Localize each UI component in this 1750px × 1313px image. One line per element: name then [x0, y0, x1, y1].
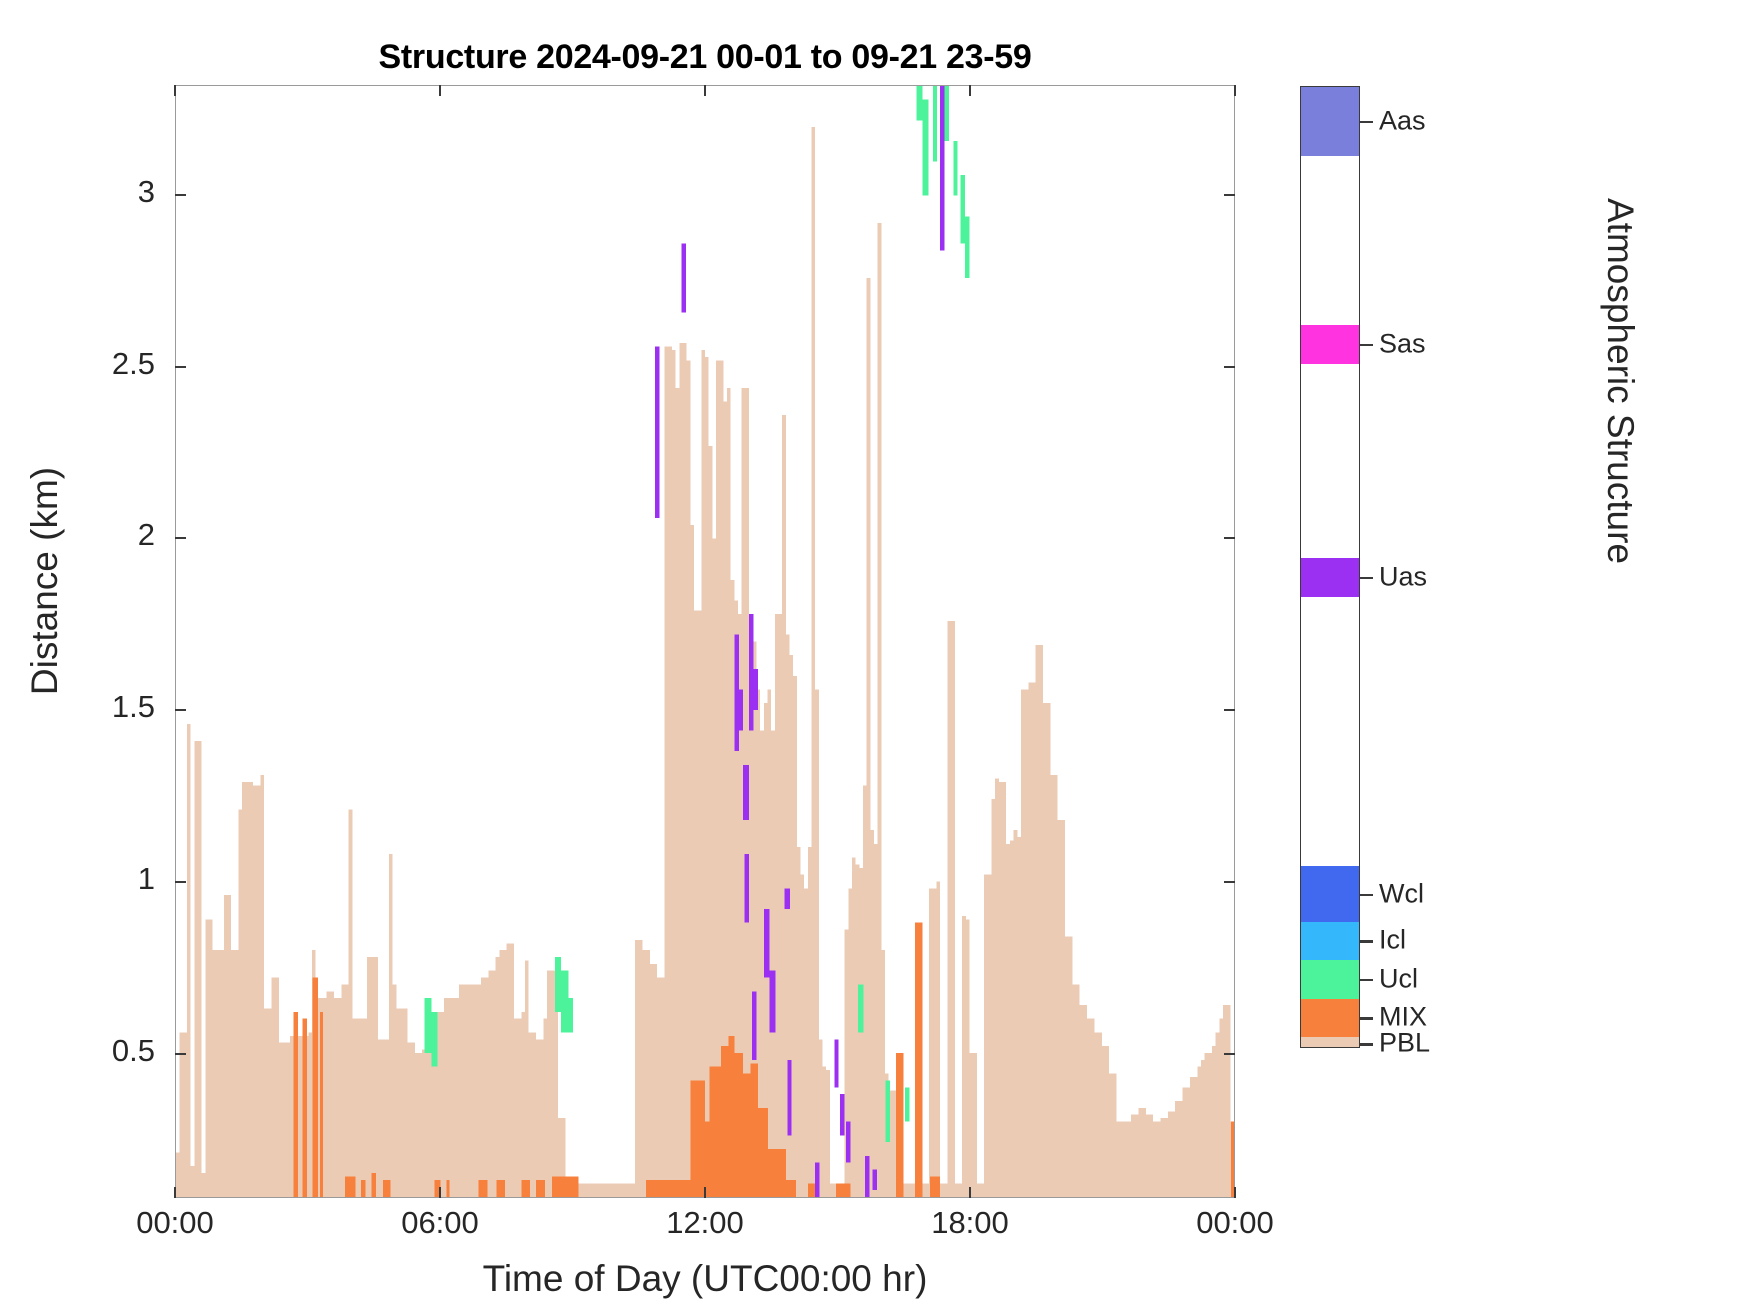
pbl-column [628, 1183, 632, 1197]
y-tick-label: 3 [15, 174, 155, 210]
x-tick-mark [969, 1187, 971, 1198]
pbl-column [338, 998, 342, 1197]
pbl-column [947, 621, 951, 1197]
pbl-column [540, 1039, 544, 1197]
colorbar-title: Atmospheric Structure [1599, 141, 1641, 621]
pbl-column [411, 1043, 415, 1197]
mix-segment [313, 978, 318, 1197]
pbl-column [1223, 1005, 1227, 1197]
pbl-column [1083, 1005, 1087, 1197]
colorbar-tick-pbl [1360, 1043, 1373, 1045]
mix-segment [345, 1176, 355, 1197]
series-pbl [176, 127, 1234, 1197]
pbl-column [635, 940, 639, 1197]
pbl-column [911, 1183, 915, 1197]
pbl-column [984, 875, 988, 1197]
pbl-column [992, 799, 996, 1197]
y-tick-mark [175, 709, 186, 711]
x-tick-mark-top [174, 85, 176, 96]
x-tick-mark-top [1234, 85, 1236, 96]
pbl-column [621, 1183, 625, 1197]
pbl-column [529, 1032, 533, 1197]
pbl-column [892, 1091, 896, 1197]
pbl-column [532, 1032, 536, 1197]
mix-segment [446, 1180, 449, 1197]
pbl-column [503, 950, 507, 1197]
pbl-column [687, 360, 691, 1197]
pbl-column [349, 810, 353, 1197]
pbl-column [474, 984, 478, 1197]
mix-segment [836, 1183, 851, 1197]
pbl-column [499, 950, 503, 1197]
y-tick-label: 0.5 [15, 1033, 155, 1069]
pbl-column [481, 978, 485, 1197]
pbl-column [999, 782, 1003, 1197]
pbl-column [1076, 984, 1080, 1197]
pbl-column [496, 957, 500, 1197]
pbl-column [988, 875, 992, 1197]
y-tick-mark-right [1224, 194, 1235, 196]
pbl-column [933, 888, 937, 1197]
pbl-column [793, 676, 797, 1197]
colorbar-label-aas: Aas [1379, 105, 1426, 136]
mix-segment [646, 1180, 690, 1197]
mix-segment [751, 1063, 758, 1197]
pbl-column [878, 223, 882, 1197]
pbl-column [1094, 1032, 1098, 1197]
pbl-column [1098, 1032, 1102, 1197]
pbl-column [1205, 1053, 1209, 1197]
pbl-column [584, 1183, 588, 1197]
pbl-column [1113, 1074, 1117, 1197]
pbl-column [198, 741, 202, 1197]
pbl-column [606, 1183, 610, 1197]
mix-segment [383, 1180, 390, 1197]
pbl-column [1054, 775, 1058, 1197]
pbl-column [705, 357, 709, 1197]
pbl-column [459, 984, 463, 1197]
pbl-column [981, 1183, 985, 1197]
mix-segment [371, 1173, 375, 1197]
pbl-column [643, 950, 647, 1197]
uas-segment [734, 635, 738, 752]
pbl-column [852, 858, 856, 1197]
pbl-column [951, 621, 955, 1197]
mix-segment [294, 1012, 298, 1197]
pbl-column [389, 854, 393, 1197]
ucl-segment [917, 86, 923, 120]
pbl-column [227, 895, 231, 1197]
pbl-column [617, 1183, 621, 1197]
colorbar-segment-uas [1301, 558, 1359, 596]
pbl-column [286, 1043, 290, 1197]
pbl-column [775, 614, 779, 1197]
pbl-column [352, 1019, 356, 1197]
pbl-column [477, 984, 481, 1197]
pbl-column [1127, 1122, 1131, 1197]
x-tick-label: 18:00 [880, 1205, 1060, 1241]
pbl-column [1161, 1118, 1165, 1197]
colorbar-segment-pbl [1301, 1037, 1359, 1048]
pbl-column [1010, 840, 1014, 1197]
pbl-column [1025, 690, 1029, 1197]
pbl-column [977, 1183, 981, 1197]
pbl-column [323, 998, 327, 1197]
pbl-column [1197, 1067, 1201, 1197]
pbl-column [580, 1183, 584, 1197]
pbl-column [1058, 820, 1062, 1197]
uas-segment [752, 991, 756, 1060]
y-tick-mark [175, 194, 186, 196]
pbl-column [371, 957, 375, 1197]
pbl-column [220, 950, 224, 1197]
pbl-column [551, 971, 555, 1197]
pbl-column [801, 875, 805, 1197]
ucl-segment [555, 957, 561, 1012]
pbl-column [970, 1053, 974, 1197]
ucl-segment [432, 1012, 438, 1067]
colorbar-tick-sas [1360, 344, 1373, 346]
colorbar-label-ucl: Ucl [1379, 963, 1418, 994]
pbl-column [1135, 1115, 1139, 1197]
uas-segment [681, 244, 685, 313]
pbl-column [683, 343, 687, 1197]
pbl-column [587, 1183, 591, 1197]
mix-segment [521, 1180, 530, 1197]
y-tick-mark [175, 881, 186, 883]
pbl-column [1212, 1046, 1216, 1197]
pbl-column [374, 957, 378, 1197]
pbl-column [400, 1008, 404, 1197]
mix-segment [690, 1080, 705, 1197]
pbl-column [238, 810, 242, 1197]
uas-segment [840, 1094, 844, 1135]
pbl-column [404, 1008, 408, 1197]
colorbar-label-wcl: Wcl [1379, 879, 1424, 910]
pbl-column [521, 1012, 525, 1197]
pbl-column [514, 1019, 518, 1197]
pbl-column [463, 984, 467, 1197]
pbl-column [290, 1036, 294, 1197]
pbl-column [455, 998, 459, 1197]
pbl-column [441, 1012, 445, 1197]
pbl-column [360, 1019, 364, 1197]
pbl-column [485, 978, 489, 1197]
pbl-column [624, 1183, 628, 1197]
pbl-column [958, 1183, 962, 1197]
colorbar-label-icl: Icl [1379, 925, 1406, 956]
pbl-column [253, 786, 257, 1197]
pbl-column [602, 1183, 606, 1197]
pbl-column [444, 998, 448, 1197]
pbl-column [202, 1173, 206, 1197]
pbl-column [874, 844, 878, 1197]
pbl-column [1183, 1087, 1187, 1197]
uas-segment [940, 86, 944, 251]
pbl-column [826, 1070, 830, 1197]
pbl-column [1124, 1122, 1128, 1197]
uas-segment [846, 1122, 850, 1163]
page-title: Structure 2024-09-21 00-01 to 09-21 23-5… [175, 38, 1235, 77]
pbl-column [382, 1039, 386, 1197]
x-tick-mark [439, 1187, 441, 1198]
colorbar-gradient-box [1300, 86, 1360, 1048]
pbl-column [194, 741, 198, 1197]
colorbar[interactable]: AasSasUasWclIclUclMIXPBL [1300, 86, 1360, 1048]
pbl-column [1157, 1122, 1161, 1197]
pbl-column [1072, 984, 1076, 1197]
ucl-segment [961, 175, 965, 244]
pbl-column [415, 1053, 419, 1197]
pbl-column [955, 1183, 959, 1197]
pbl-column [1036, 645, 1040, 1197]
pbl-column [1069, 936, 1073, 1197]
pbl-column [470, 984, 474, 1197]
colorbar-segment-ucl [1301, 960, 1359, 998]
pbl-column [859, 868, 863, 1197]
uas-segment [745, 854, 749, 923]
pbl-column [216, 950, 220, 1197]
pbl-column [385, 1039, 389, 1197]
mix-segment [361, 1180, 365, 1197]
pbl-column [231, 950, 235, 1197]
pbl-column [518, 1019, 522, 1197]
pbl-column [187, 724, 191, 1197]
pbl-column [246, 782, 250, 1197]
pbl-column [668, 347, 672, 1197]
pbl-column [782, 415, 786, 1197]
ucl-segment [424, 998, 431, 1053]
x-tick-label: 00:00 [1145, 1205, 1325, 1241]
ucl-segment [905, 1087, 909, 1121]
pbl-column [330, 991, 334, 1197]
mix-segment [758, 1108, 768, 1197]
pbl-column [609, 1183, 613, 1197]
uas-segment [739, 690, 743, 731]
pbl-column [591, 1183, 595, 1197]
pbl-column [1194, 1077, 1198, 1197]
pbl-column [536, 1039, 540, 1197]
colorbar-tick-ucl [1360, 979, 1373, 981]
pbl-column [393, 984, 397, 1197]
ucl-segment [568, 998, 572, 1032]
pbl-column [1003, 782, 1007, 1197]
pbl-column [209, 919, 213, 1197]
x-tick-mark [1234, 1187, 1236, 1198]
colorbar-tick-uas [1360, 577, 1373, 579]
pbl-column [808, 847, 812, 1197]
pbl-column [1006, 844, 1010, 1197]
pbl-column [1172, 1111, 1176, 1197]
uas-segment [770, 971, 776, 1033]
y-tick-label: 2.5 [15, 346, 155, 382]
pbl-column [345, 984, 349, 1197]
pbl-column [672, 350, 676, 1197]
pbl-column [1065, 936, 1069, 1197]
y-axis-label: Distance (km) [24, 321, 66, 841]
uas-segment [873, 1170, 877, 1191]
y-tick-mark-right [1224, 709, 1235, 711]
mix-segment [496, 1180, 505, 1197]
pbl-column [907, 1183, 911, 1197]
pbl-column [966, 919, 970, 1197]
pbl-column [272, 978, 276, 1197]
uas-segment [743, 765, 749, 820]
pbl-column [925, 1183, 929, 1197]
pbl-column [962, 916, 966, 1197]
mix-segment [930, 1176, 940, 1197]
colorbar-tick-mix [1360, 1017, 1373, 1019]
pbl-column [1150, 1115, 1154, 1197]
plot-area [175, 85, 1235, 1198]
x-tick-label: 00:00 [85, 1205, 265, 1241]
pbl-column [1120, 1122, 1124, 1197]
pbl-column [1087, 1019, 1091, 1197]
pbl-column [881, 950, 885, 1197]
pbl-column [334, 998, 338, 1197]
pbl-column [275, 978, 279, 1197]
pbl-column [341, 984, 345, 1197]
pbl-column [492, 971, 496, 1197]
x-axis-label: Time of Day (UTC00:00 hr) [175, 1258, 1235, 1300]
pbl-column [1153, 1122, 1157, 1197]
y-tick-label: 1 [15, 861, 155, 897]
pbl-column [1102, 1046, 1106, 1197]
mix-segment [743, 1074, 750, 1197]
x-tick-label: 12:00 [615, 1205, 795, 1241]
x-tick-mark [174, 1187, 176, 1198]
pbl-column [646, 950, 650, 1197]
mix-segment [729, 1036, 735, 1197]
pbl-column [283, 1043, 287, 1197]
pbl-column [1186, 1087, 1190, 1197]
pbl-column [639, 940, 643, 1197]
pbl-column [778, 614, 782, 1197]
pbl-column [1028, 683, 1032, 1197]
mix-segment [536, 1180, 545, 1197]
uas-segment [764, 909, 770, 978]
pbl-column [944, 1183, 948, 1197]
pbl-column [1227, 1005, 1231, 1197]
pbl-column [466, 984, 470, 1197]
pbl-column [804, 888, 808, 1197]
pbl-column [1164, 1118, 1168, 1197]
pbl-column [1179, 1101, 1183, 1197]
uas-segment [834, 1039, 838, 1087]
ucl-segment [933, 86, 937, 161]
colorbar-segment-mix [1301, 999, 1359, 1037]
pbl-column [1080, 1005, 1084, 1197]
pbl-column [1190, 1077, 1194, 1197]
pbl-column [598, 1183, 602, 1197]
colorbar-segment-icl [1301, 922, 1359, 960]
x-tick-mark-top [439, 85, 441, 96]
pbl-column [654, 964, 658, 1197]
colorbar-label-uas: Uas [1379, 561, 1427, 592]
pbl-column [1017, 837, 1021, 1197]
y-tick-mark [175, 537, 186, 539]
ucl-segment [965, 216, 969, 278]
y-tick-label: 2 [15, 517, 155, 553]
pbl-column [183, 1032, 187, 1197]
pbl-column [224, 895, 228, 1197]
y-tick-label: 1.5 [15, 689, 155, 725]
x-tick-mark [704, 1187, 706, 1198]
pbl-column [797, 847, 801, 1197]
x-tick-mark-top [704, 85, 706, 96]
pbl-column [701, 350, 705, 1197]
pbl-column [176, 1152, 180, 1197]
mix-segment [768, 1149, 786, 1197]
pbl-column [180, 1032, 184, 1197]
mix-segment [896, 1053, 903, 1197]
mix-segment [1231, 1122, 1234, 1197]
pbl-column [1201, 1060, 1205, 1197]
pbl-column [1146, 1115, 1150, 1197]
pbl-column [1131, 1115, 1135, 1197]
colorbar-segment-aas [1301, 87, 1359, 156]
uas-segment [787, 1060, 791, 1135]
colorbar-tick-icl [1360, 940, 1373, 942]
colorbar-segment-wcl [1301, 866, 1359, 922]
pbl-column [1219, 1019, 1223, 1197]
pbl-column [613, 1183, 617, 1197]
mix-segment [479, 1180, 488, 1197]
pbl-column [679, 343, 683, 1197]
mix-segment [302, 1019, 306, 1197]
pbl-column [676, 388, 680, 1197]
pbl-column [452, 998, 456, 1197]
x-tick-mark-top [969, 85, 971, 96]
pbl-column [973, 1053, 977, 1197]
ucl-segment [858, 984, 864, 1032]
pbl-column [940, 1183, 944, 1197]
pbl-column [308, 1032, 312, 1197]
mix-segment [705, 1122, 709, 1197]
pbl-column [422, 1050, 426, 1197]
pbl-column [657, 978, 661, 1197]
pbl-column [418, 1053, 422, 1197]
pbl-column [1047, 703, 1051, 1197]
pbl-column [257, 786, 261, 1197]
pbl-column [260, 775, 264, 1197]
pbl-column [488, 971, 492, 1197]
y-tick-mark [175, 366, 186, 368]
uas-segment [784, 888, 790, 909]
pbl-column [650, 964, 654, 1197]
pbl-column [264, 1008, 268, 1197]
x-tick-label: 06:00 [350, 1205, 530, 1241]
pbl-column [665, 347, 669, 1197]
pbl-column [1021, 690, 1025, 1197]
pbl-column [1216, 1032, 1220, 1197]
mix-segment [552, 1176, 578, 1197]
pbl-column [205, 919, 209, 1197]
uas-segment [753, 669, 757, 710]
pbl-column [510, 943, 514, 1197]
pbl-column [870, 830, 874, 1197]
mix-segment [709, 1067, 721, 1197]
pbl-column [595, 1183, 599, 1197]
pbl-column [235, 950, 239, 1197]
pbl-column [661, 978, 665, 1197]
figure-canvas: Structure 2024-09-21 00-01 to 09-21 23-5… [0, 0, 1750, 1313]
pbl-column [1043, 703, 1047, 1197]
pbl-column [1109, 1074, 1113, 1197]
pbl-column [191, 1166, 195, 1197]
pbl-column [823, 1067, 827, 1197]
pbl-column [367, 957, 371, 1197]
